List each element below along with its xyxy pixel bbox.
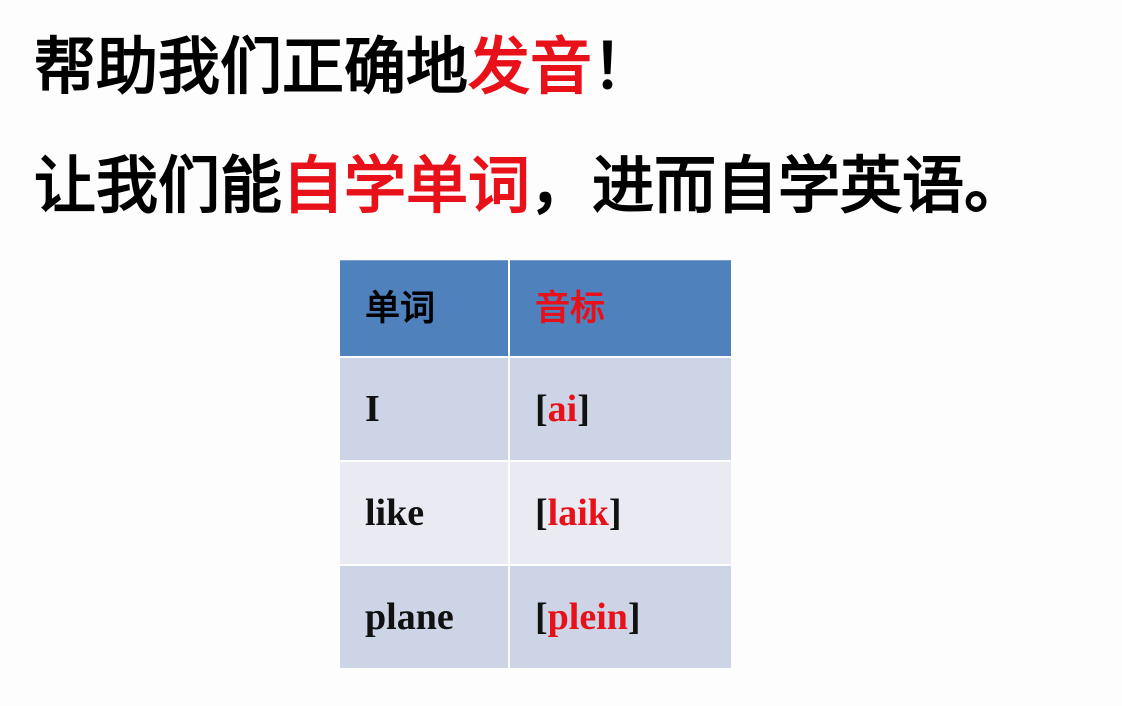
ipa-close-bracket: ] bbox=[577, 388, 590, 430]
word-text: plane bbox=[365, 596, 454, 638]
ipa-close-bracket: ] bbox=[628, 596, 641, 638]
ipa-sound: plein bbox=[548, 596, 628, 638]
cell-word: plane bbox=[340, 566, 508, 668]
headline-1-emphasis: 发音 bbox=[468, 33, 592, 102]
headline-line-2: 让我们能自学单词，进而自学英语。 bbox=[34, 152, 1026, 222]
word-pronunciation-table: 单词 音标 I [ai] like [laik] plane bbox=[338, 258, 733, 670]
ipa-sound: ai bbox=[548, 388, 578, 430]
ipa-text: [plein] bbox=[535, 596, 641, 638]
headline-2-emphasis: 自学单词 bbox=[282, 152, 530, 221]
table-row: like [laik] bbox=[340, 462, 731, 564]
column-header-word-label: 单词 bbox=[365, 289, 435, 328]
cell-word: like bbox=[340, 462, 508, 564]
word-text: like bbox=[365, 492, 424, 534]
ipa-close-bracket: ] bbox=[609, 492, 622, 534]
ipa-open-bracket: [ bbox=[535, 596, 548, 638]
headline-1-prefix: 帮助我们正确地 bbox=[34, 33, 468, 102]
column-header-ipa: 音标 bbox=[510, 260, 731, 356]
word-text: I bbox=[365, 388, 380, 430]
table-header-row: 单词 音标 bbox=[340, 260, 731, 356]
ipa-text: [ai] bbox=[535, 388, 590, 430]
column-header-word: 单词 bbox=[340, 260, 508, 356]
ipa-sound: laik bbox=[548, 492, 609, 534]
ipa-open-bracket: [ bbox=[535, 492, 548, 534]
table-row: I [ai] bbox=[340, 358, 731, 460]
ipa-text: [laik] bbox=[535, 492, 622, 534]
cell-ipa: [plein] bbox=[510, 566, 731, 668]
cell-ipa: [ai] bbox=[510, 358, 731, 460]
column-header-ipa-label: 音标 bbox=[535, 289, 605, 328]
headline-2-suffix: ，进而自学英语。 bbox=[530, 152, 1026, 221]
table-row: plane [plein] bbox=[340, 566, 731, 668]
headline-line-1: 帮助我们正确地发音！ bbox=[34, 33, 654, 103]
headline-2-prefix: 让我们能 bbox=[34, 152, 282, 221]
headline-1-suffix: ！ bbox=[592, 33, 654, 102]
cell-word: I bbox=[340, 358, 508, 460]
cell-ipa: [laik] bbox=[510, 462, 731, 564]
ipa-open-bracket: [ bbox=[535, 388, 548, 430]
